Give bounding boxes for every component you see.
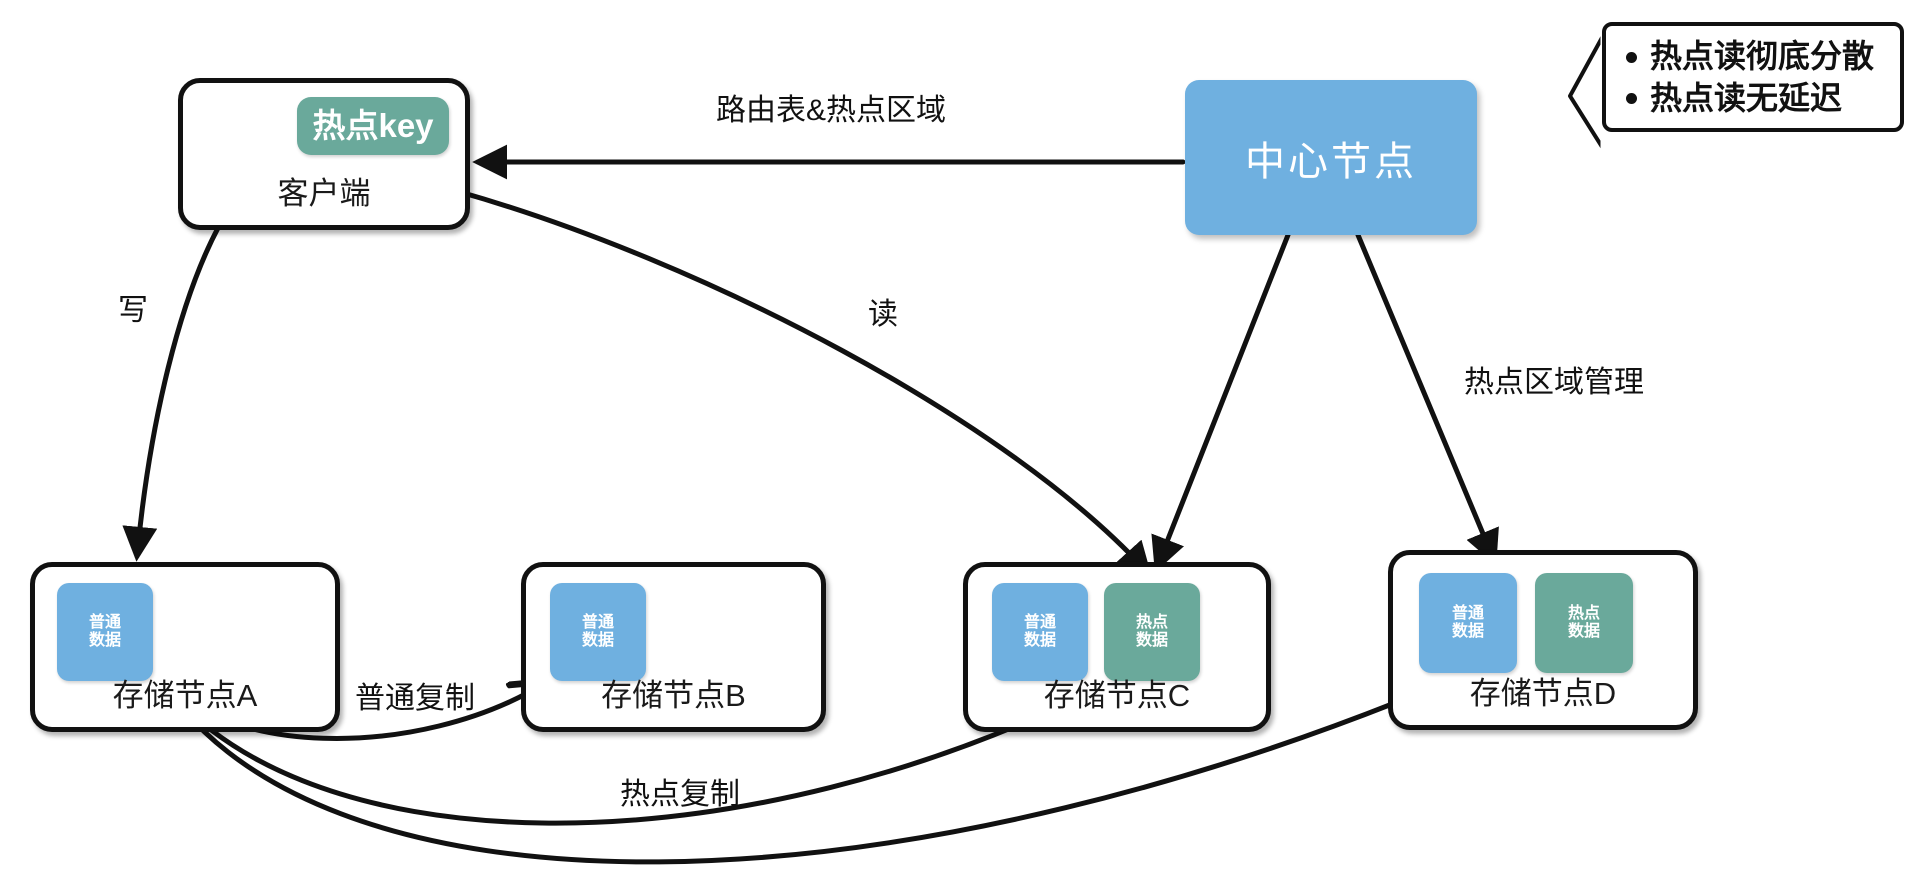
edge-label-read: 读 [868,300,898,330]
storage-node-b[interactable]: 普通 数据 存储节点B [521,562,826,732]
storage-node-a[interactable]: 普通 数据 存储节点A [30,562,340,732]
storage-node-c[interactable]: 普通 数据 热点 数据 存储节点C [963,562,1271,732]
normal-data-badge: 普通 数据 [1419,573,1517,673]
edge-client-to-node-a [137,228,218,556]
storage-node-c-label: 存储节点C [968,680,1266,711]
client-node-label: 客户端 [183,178,465,209]
normal-data-line-1: 普通 [1452,605,1484,623]
storage-node-b-label: 存储节点B [526,680,821,711]
callout-box: 热点读彻底分散 热点读无延迟 [1602,22,1904,132]
callout-bullet-1: 热点读彻底分散 [1650,36,1880,78]
edge-label-hot-region-manage: 热点区域管理 [1464,368,1644,398]
normal-data-badge: 普通 数据 [992,583,1088,681]
edge-label-route-table: 路由表&热点区域 [716,96,946,126]
edge-center-to-node-c [1157,235,1288,567]
hot-data-line-1: 热点 [1136,614,1168,632]
storage-node-d-label: 存储节点D [1393,678,1693,709]
client-node[interactable]: 热点key 客户端 [178,78,470,230]
edge-label-hot-replicate: 热点复制 [620,780,740,810]
hot-key-badge-label: 热点key [312,108,433,145]
hot-key-badge: 热点key [297,97,449,155]
normal-data-line-2: 数据 [89,632,121,650]
hot-data-line-1: 热点 [1568,605,1600,623]
callout-list: 热点读彻底分散 热点读无延迟 [1622,36,1880,119]
normal-data-line-1: 普通 [1024,614,1056,632]
callout-tail [1570,34,1604,150]
normal-data-line-2: 数据 [582,632,614,650]
normal-data-line-1: 普通 [89,614,121,632]
storage-node-a-label: 存储节点A [35,680,335,711]
edge-client-to-node-c [460,192,1148,573]
diagram-canvas: 热点key 客户端 中心节点 热点读彻底分散 热点读无延迟 普通 数据 存储节点… [0,0,1920,895]
edge-label-normal-replicate: 普通复制 [355,684,475,714]
normal-data-badge: 普通 数据 [57,583,153,681]
hot-data-line-2: 数据 [1136,632,1168,650]
hot-data-line-2: 数据 [1568,623,1600,641]
storage-node-d[interactable]: 普通 数据 热点 数据 存储节点D [1388,550,1698,730]
normal-data-line-2: 数据 [1024,632,1056,650]
normal-data-badge: 普通 数据 [550,583,646,681]
edge-label-write: 写 [118,296,148,326]
hot-data-badge: 热点 数据 [1535,573,1633,673]
hot-data-badge: 热点 数据 [1104,583,1200,681]
normal-data-line-1: 普通 [582,614,614,632]
normal-data-line-2: 数据 [1452,623,1484,641]
callout-bullet-2: 热点读无延迟 [1650,78,1880,120]
center-node-label: 中心节点 [1245,129,1417,187]
center-node[interactable]: 中心节点 [1185,80,1477,235]
